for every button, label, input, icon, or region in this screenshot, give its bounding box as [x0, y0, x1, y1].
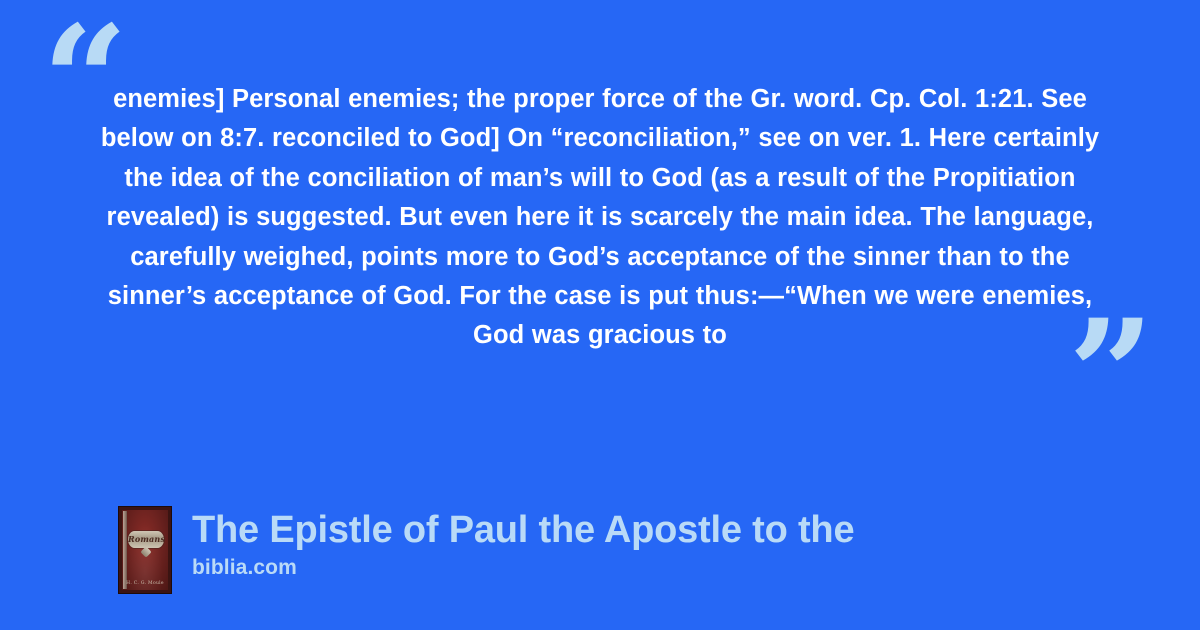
quote-block: enemies] Personal enemies; the proper fo… [100, 80, 1100, 356]
source-label: biblia.com [192, 555, 854, 581]
quote-card: “ enemies] Personal enemies; the proper … [0, 0, 1200, 630]
closing-quote-icon: ” [1068, 300, 1152, 450]
book-cover-spine [123, 511, 127, 589]
book-title: The Epistle of Paul the Apostle to the [192, 508, 854, 553]
quote-text: enemies] Personal enemies; the proper fo… [100, 80, 1100, 356]
book-cover-thumbnail: Romans H. C. G. Moule [118, 506, 172, 594]
attribution-text-group: The Epistle of Paul the Apostle to the b… [192, 506, 854, 581]
book-cover-plate: Romans [128, 531, 164, 548]
book-cover-title-text: Romans [128, 534, 164, 544]
book-cover-author-text: H. C. G. Moule [119, 581, 171, 587]
attribution-footer: Romans H. C. G. Moule The Epistle of Pau… [118, 506, 854, 594]
